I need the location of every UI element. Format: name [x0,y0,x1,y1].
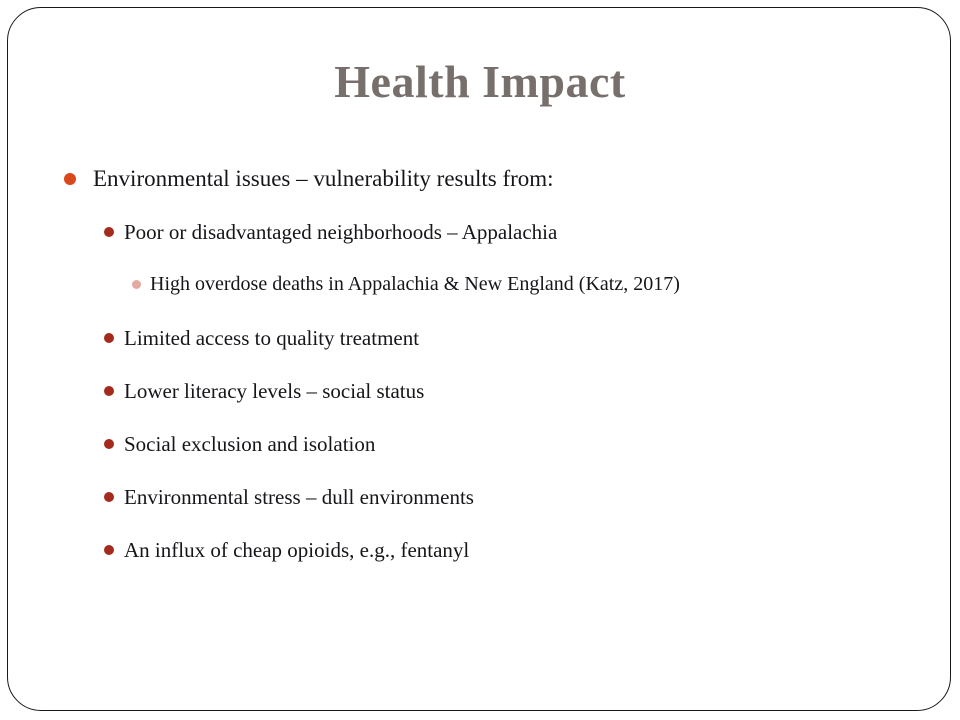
filled-circle-bullet-icon [132,280,141,289]
presentation-slide: Health Impact Environmental issues – vul… [0,0,960,720]
bullet-item-label: Lower literacy levels – social status [124,375,960,407]
filled-circle-bullet-icon [64,173,76,185]
bullet-list-item-level3: High overdose deaths in Appalachia & New… [0,269,960,322]
bullet-item-label: An influx of cheap opioids, e.g., fentan… [124,534,960,566]
filled-circle-bullet-icon [104,545,114,555]
bullet-list-item-level2: Social exclusion and isolation [0,428,960,481]
page-title: Health Impact [0,56,960,108]
bullet-list-item-level2: Environmental stress – dull environments [0,481,960,534]
bullet-item-label: Limited access to quality treatment [124,322,960,354]
bullet-item-label: Poor or disadvantaged neighborhoods – Ap… [124,216,960,248]
filled-circle-bullet-icon [104,439,114,449]
filled-circle-bullet-icon [104,333,114,343]
bullet-list-item-level2: An influx of cheap opioids, e.g., fentan… [0,534,960,587]
filled-circle-bullet-icon [104,227,114,237]
filled-circle-bullet-icon [104,492,114,502]
bullet-item-label: Environmental stress – dull environments [124,481,960,513]
bullet-item-label: Social exclusion and isolation [124,428,960,460]
filled-circle-bullet-icon [104,386,114,396]
bullet-list-item-level1: Environmental issues – vulnerability res… [0,162,960,216]
slide-body-content: Environmental issues – vulnerability res… [0,162,960,587]
bullet-item-label: Environmental issues – vulnerability res… [93,162,960,196]
bullet-list-item-level2: Poor or disadvantaged neighborhoods – Ap… [0,216,960,269]
bullet-list-item-level2: Limited access to quality treatment [0,322,960,375]
bullet-item-label: High overdose deaths in Appalachia & New… [150,269,960,300]
bullet-list-item-level2: Lower literacy levels – social status [0,375,960,428]
